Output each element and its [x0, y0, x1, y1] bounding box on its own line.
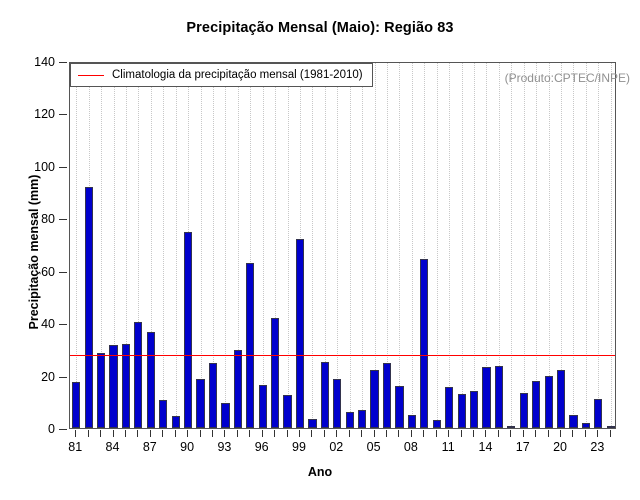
- gridline-vertical: [511, 63, 512, 428]
- x-tick-label-11: 11: [442, 440, 455, 454]
- y-tick-mark: [59, 114, 67, 115]
- x-tick-mark: [311, 430, 312, 437]
- precipitation-bar-chart: Precipitação Mensal (Maio): Região 83 Pr…: [0, 0, 640, 500]
- gridline-vertical: [163, 63, 164, 428]
- bar-85: [122, 344, 130, 428]
- x-tick-mark: [349, 430, 350, 437]
- bar-17: [520, 393, 528, 428]
- x-tick-mark: [299, 430, 300, 437]
- y-tick-label-40: 40: [41, 317, 55, 331]
- gridline-vertical: [225, 63, 226, 428]
- bar-92: [209, 363, 217, 428]
- x-tick-mark: [287, 430, 288, 437]
- bar-08: [408, 415, 416, 428]
- x-tick-label-93: 93: [217, 440, 231, 454]
- x-tick-mark: [274, 430, 275, 437]
- bar-87: [147, 332, 155, 428]
- bar-99: [296, 239, 304, 428]
- x-tick-label-05: 05: [367, 440, 381, 454]
- x-tick-label-23: 23: [590, 440, 604, 454]
- bar-05: [370, 370, 378, 428]
- x-tick-mark: [572, 430, 573, 437]
- gridline-vertical: [437, 63, 438, 428]
- x-tick-mark: [448, 430, 449, 437]
- gridline-vertical: [586, 63, 587, 428]
- bar-04: [358, 410, 366, 428]
- bar-01: [321, 362, 329, 428]
- y-tick-mark: [59, 377, 67, 378]
- gridline-vertical: [598, 63, 599, 428]
- gridline-vertical: [536, 63, 537, 428]
- y-axis: 020406080100120140: [0, 0, 69, 500]
- plot-area: [69, 62, 616, 429]
- x-axis-title: Ano: [0, 465, 640, 479]
- y-tick-label-80: 80: [41, 212, 55, 226]
- gridline-vertical: [462, 63, 463, 428]
- bar-07: [395, 386, 403, 428]
- y-tick-label-60: 60: [41, 265, 55, 279]
- bar-19: [545, 376, 553, 428]
- gridline-vertical: [573, 63, 574, 428]
- x-tick-mark: [75, 430, 76, 437]
- bar-02: [333, 379, 341, 428]
- x-tick-mark: [535, 430, 536, 437]
- x-tick-mark: [374, 430, 375, 437]
- bar-89: [172, 416, 180, 428]
- x-tick-label-84: 84: [106, 440, 120, 454]
- x-tick-label-87: 87: [143, 440, 157, 454]
- y-tick-label-140: 140: [34, 55, 55, 69]
- x-tick-label-08: 08: [404, 440, 418, 454]
- y-tick-label-20: 20: [41, 370, 55, 384]
- x-tick-mark: [324, 430, 325, 437]
- x-tick-label-96: 96: [255, 440, 269, 454]
- x-tick-mark: [461, 430, 462, 437]
- bar-11: [445, 387, 453, 428]
- x-tick-mark: [137, 430, 138, 437]
- x-tick-mark: [411, 430, 412, 437]
- bar-24: [607, 426, 615, 428]
- x-tick-mark: [249, 430, 250, 437]
- x-tick-mark: [485, 430, 486, 437]
- bar-93: [221, 403, 229, 428]
- y-tick-mark: [59, 272, 67, 273]
- y-tick-label-120: 120: [34, 107, 55, 121]
- bar-16: [507, 426, 515, 428]
- gridline-vertical: [76, 63, 77, 428]
- bar-86: [134, 322, 142, 428]
- y-tick-label-0: 0: [48, 422, 55, 436]
- gridline-vertical: [288, 63, 289, 428]
- gridline-vertical: [350, 63, 351, 428]
- bar-83: [97, 353, 105, 429]
- y-tick-mark: [59, 167, 67, 168]
- x-tick-mark: [162, 430, 163, 437]
- bar-12: [458, 394, 466, 428]
- x-tick-mark: [212, 430, 213, 437]
- bar-98: [283, 395, 291, 428]
- x-tick-mark: [423, 430, 424, 437]
- x-tick-mark: [548, 430, 549, 437]
- x-tick-label-90: 90: [180, 440, 194, 454]
- bar-06: [383, 363, 391, 428]
- bar-23: [594, 399, 602, 428]
- gridline-vertical: [176, 63, 177, 428]
- x-tick-mark: [237, 430, 238, 437]
- bar-94: [234, 350, 242, 428]
- bar-15: [495, 366, 503, 428]
- y-tick-mark: [59, 429, 67, 430]
- x-tick-mark: [187, 430, 188, 437]
- bar-09: [420, 259, 428, 428]
- x-tick-mark: [498, 430, 499, 437]
- x-tick-label-02: 02: [329, 440, 343, 454]
- x-tick-mark: [88, 430, 89, 437]
- x-tick-mark: [125, 430, 126, 437]
- page-title: Precipitação Mensal (Maio): Região 83: [0, 20, 640, 36]
- bar-20: [557, 370, 565, 428]
- gridline-vertical: [312, 63, 313, 428]
- bar-18: [532, 381, 540, 428]
- x-tick-label-17: 17: [516, 440, 530, 454]
- bar-14: [482, 367, 490, 428]
- gridline-vertical: [362, 63, 363, 428]
- watermark-label: (Produto:CPTEC/INPE): [505, 71, 630, 85]
- bar-97: [271, 318, 279, 428]
- gridline-vertical: [611, 63, 612, 428]
- legend: Climatologia da precipitação mensal (198…: [70, 63, 373, 87]
- x-tick-label-99: 99: [292, 440, 306, 454]
- x-tick-mark: [150, 430, 151, 437]
- x-tick-mark: [398, 430, 399, 437]
- x-tick-mark: [510, 430, 511, 437]
- gridline-vertical: [412, 63, 413, 428]
- gridline-vertical: [474, 63, 475, 428]
- x-tick-label-20: 20: [553, 440, 567, 454]
- x-tick-mark: [175, 430, 176, 437]
- y-tick-mark: [59, 219, 67, 220]
- x-tick-mark: [386, 430, 387, 437]
- bar-90: [184, 232, 192, 428]
- y-tick-label-100: 100: [34, 160, 55, 174]
- gridline-vertical: [337, 63, 338, 428]
- bar-96: [259, 385, 267, 428]
- bar-00: [308, 419, 316, 428]
- x-tick-label-81: 81: [68, 440, 82, 454]
- bar-82: [85, 187, 93, 428]
- x-tick-mark: [436, 430, 437, 437]
- legend-label-climatology: Climatologia da precipitação mensal (198…: [112, 69, 363, 81]
- bar-03: [346, 412, 354, 428]
- x-tick-mark: [361, 430, 362, 437]
- x-tick-mark: [336, 430, 337, 437]
- bar-81: [72, 382, 80, 428]
- x-tick-mark: [610, 430, 611, 437]
- bar-13: [470, 391, 478, 428]
- x-tick-mark: [597, 430, 598, 437]
- x-tick-mark: [200, 430, 201, 437]
- x-tick-mark: [523, 430, 524, 437]
- x-tick-mark: [560, 430, 561, 437]
- x-tick-mark: [585, 430, 586, 437]
- x-tick-label-14: 14: [479, 440, 493, 454]
- x-tick-mark: [113, 430, 114, 437]
- gridline-vertical: [449, 63, 450, 428]
- y-tick-mark: [59, 62, 67, 63]
- x-tick-mark: [473, 430, 474, 437]
- gridline-vertical: [549, 63, 550, 428]
- bar-21: [569, 415, 577, 428]
- y-tick-mark: [59, 324, 67, 325]
- bar-91: [196, 379, 204, 428]
- x-tick-mark: [224, 430, 225, 437]
- gridline-vertical: [201, 63, 202, 428]
- gridline-vertical: [399, 63, 400, 428]
- bar-95: [246, 263, 254, 428]
- bar-84: [109, 345, 117, 428]
- climatology-reference-line: [70, 355, 615, 356]
- x-tick-mark: [100, 430, 101, 437]
- bar-88: [159, 400, 167, 428]
- climatology-line-swatch-icon: [78, 75, 104, 76]
- gridline-vertical: [263, 63, 264, 428]
- bar-22: [582, 423, 590, 428]
- bar-10: [433, 420, 441, 428]
- gridline-vertical: [524, 63, 525, 428]
- x-tick-mark: [262, 430, 263, 437]
